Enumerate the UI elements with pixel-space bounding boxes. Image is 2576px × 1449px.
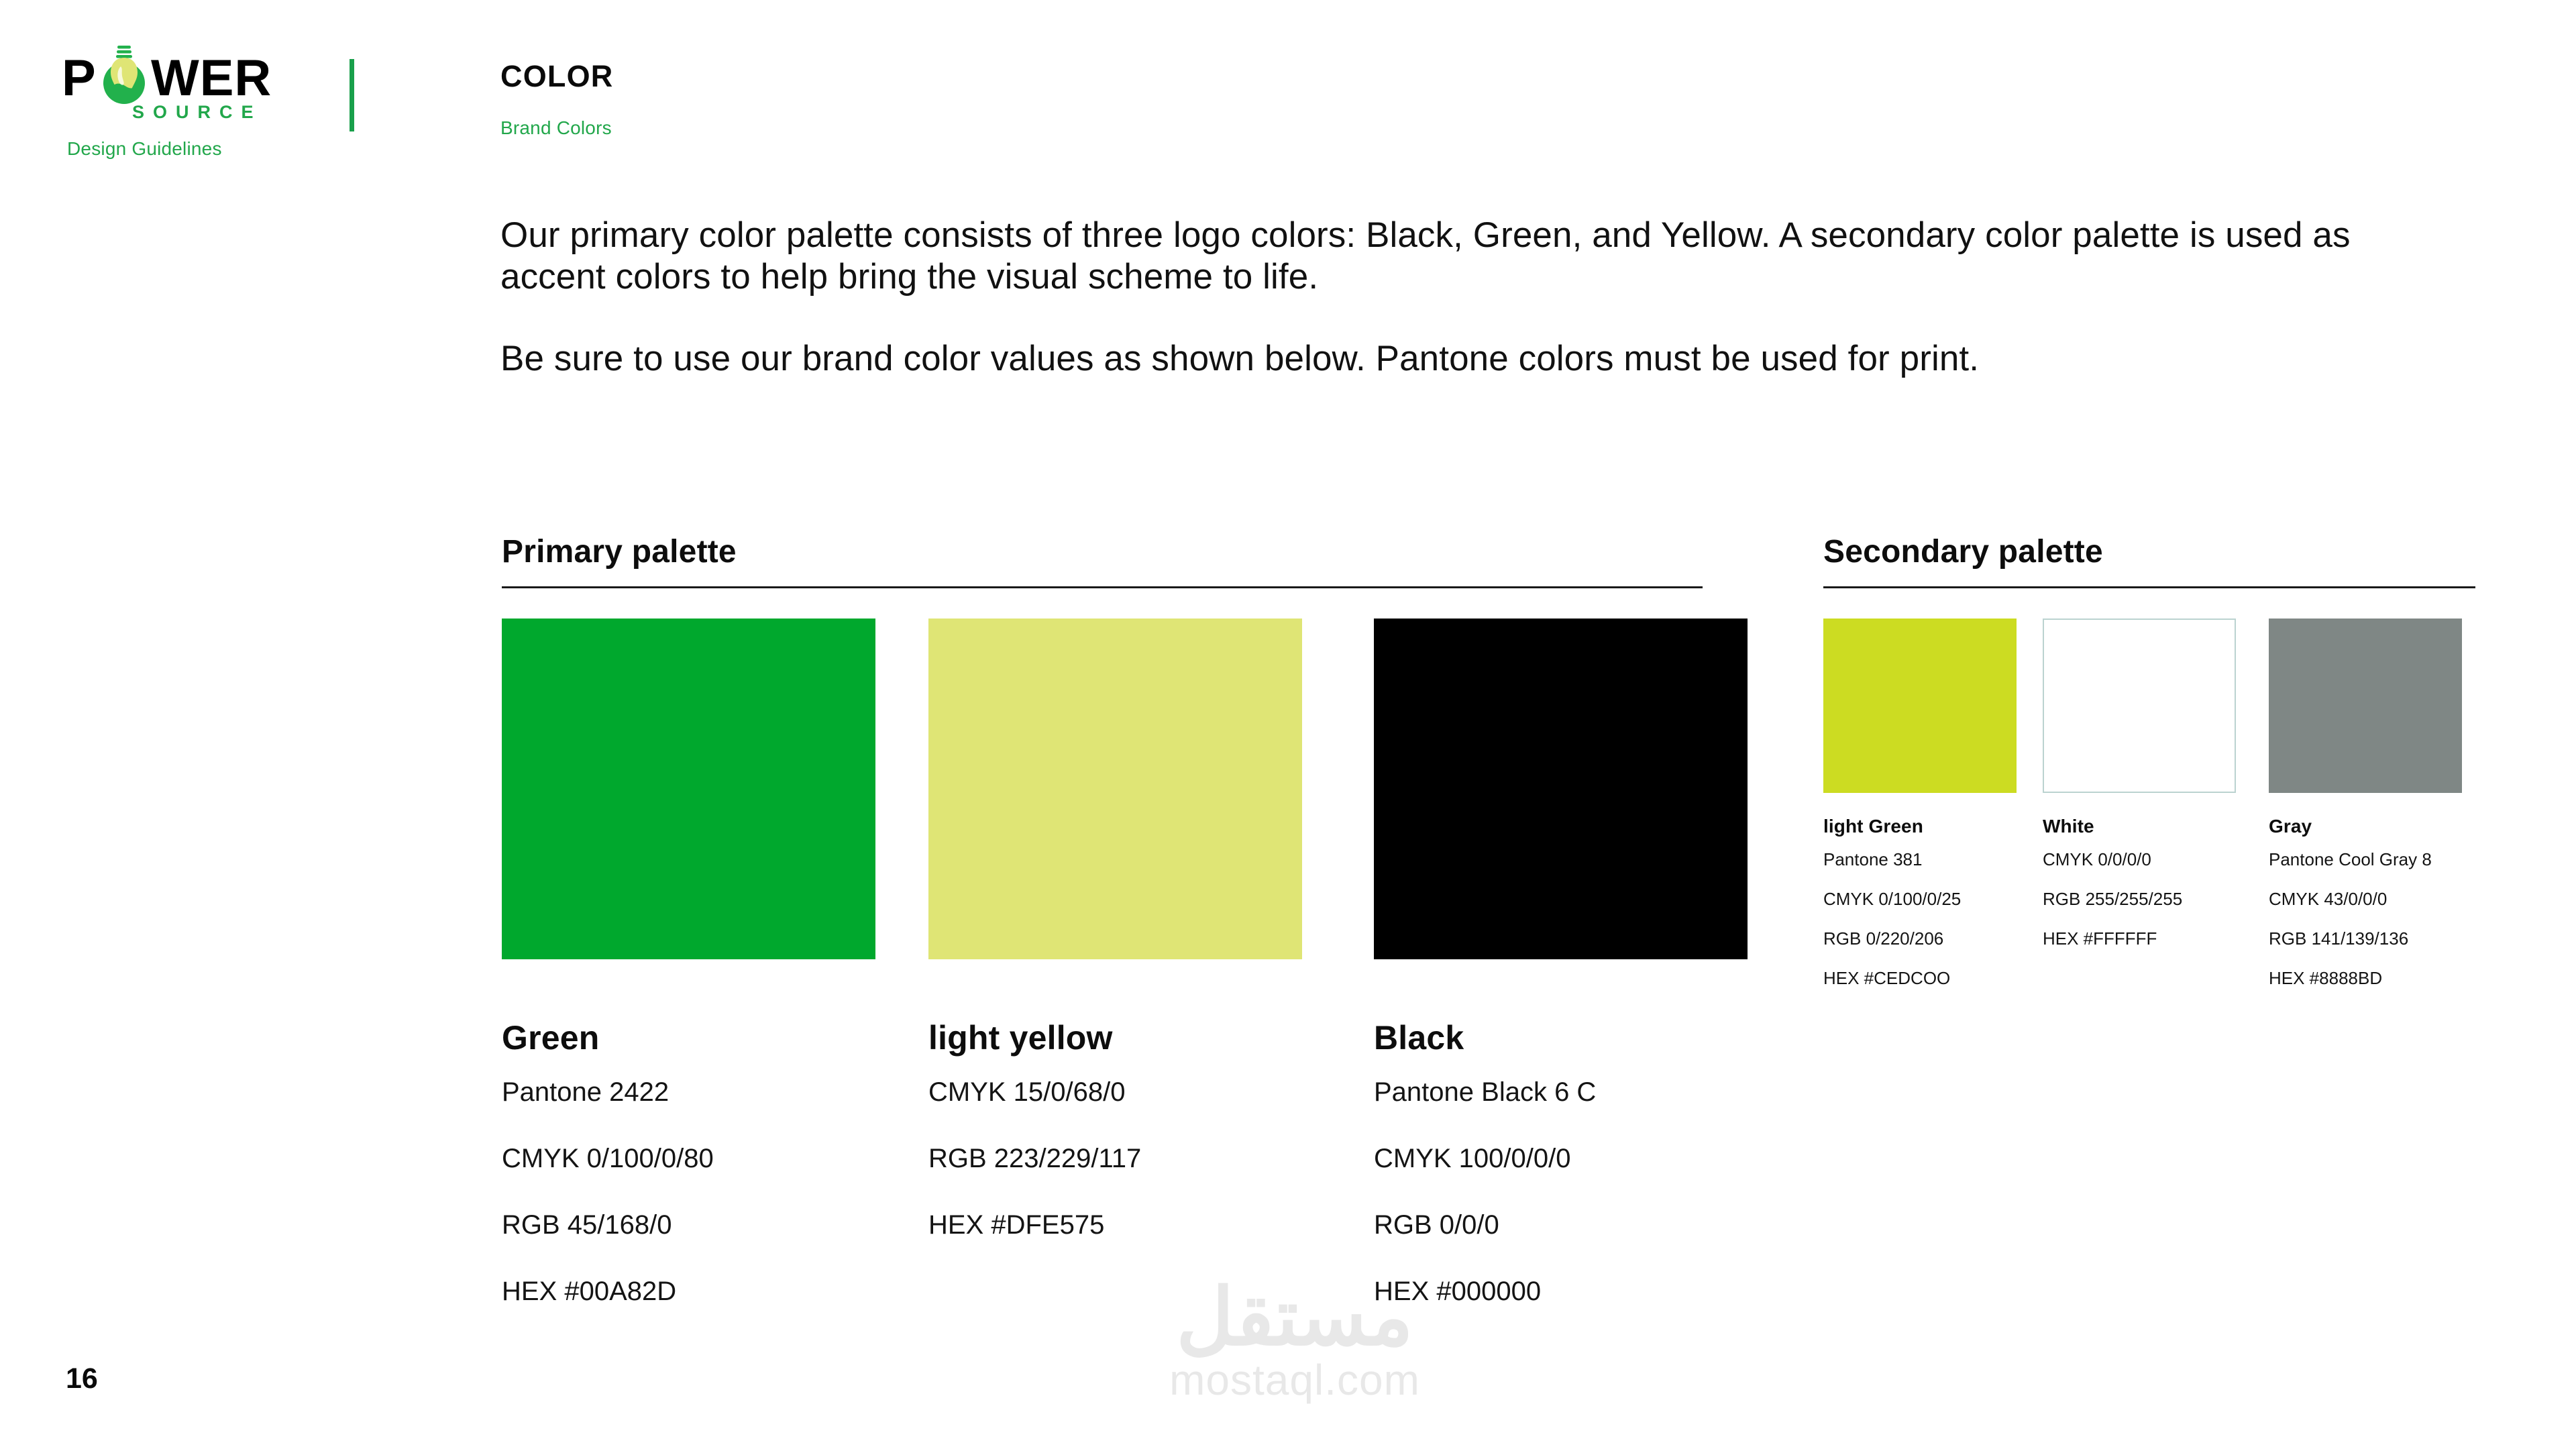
color-spec-hex: HEX #8888BD: [2269, 969, 2470, 987]
color-spec-rgb: RGB 223/229/117: [928, 1145, 1304, 1172]
page-subtitle: Brand Colors: [500, 117, 612, 139]
color-name: Green: [502, 1018, 877, 1057]
brand-logo: P WER SOURCE Design Guidelines: [62, 52, 330, 105]
color-spec-hex: HEX #000000: [1374, 1278, 1750, 1305]
color-specs: Pantone Black 6 C CMYK 100/0/0/0 RGB 0/0…: [1374, 1079, 1750, 1305]
color-chip[interactable]: [1374, 619, 1748, 959]
color-swatch-card[interactable]: White CMYK 0/0/0/0 RGB 255/255/255 HEX #…: [2043, 619, 2244, 969]
color-swatch-card[interactable]: light Green Pantone 381 CMYK 0/100/0/25 …: [1823, 619, 2025, 1009]
color-name: light Green: [1823, 816, 2025, 837]
logo-subword-source: SOURCE: [132, 102, 262, 123]
color-spec-cmyk: CMYK 0/0/0/0: [2043, 851, 2244, 868]
color-spec-rgb: RGB 141/139/136: [2269, 930, 2470, 947]
color-spec-pantone: Pantone 2422: [502, 1079, 877, 1106]
color-specs: CMYK 15/0/68/0 RGB 223/229/117 HEX #DFE5…: [928, 1079, 1304, 1238]
page-title: COLOR: [500, 59, 614, 94]
header-divider: [350, 59, 354, 131]
watermark-domain-text: mostaql.com: [1114, 1358, 1476, 1401]
color-name: Gray: [2269, 816, 2470, 837]
color-spec-hex: HEX #DFE575: [928, 1212, 1304, 1238]
color-spec-hex: HEX #CEDCOO: [1823, 969, 2025, 987]
color-spec-rgb: RGB 255/255/255: [2043, 890, 2244, 908]
color-spec-cmyk: CMYK 100/0/0/0: [1374, 1145, 1750, 1172]
color-chip[interactable]: [1823, 619, 2017, 793]
color-name: Black: [1374, 1018, 1750, 1057]
color-name: light yellow: [928, 1018, 1304, 1057]
color-spec-rgb: RGB 0/220/206: [1823, 930, 2025, 947]
logo-wordmark: P WER SOURCE: [62, 52, 310, 105]
color-spec-cmyk: CMYK 43/0/0/0: [2269, 890, 2470, 908]
color-specs: Pantone 2422 CMYK 0/100/0/80 RGB 45/168/…: [502, 1079, 877, 1305]
logo-letters-wer: WER: [151, 52, 272, 105]
color-chip[interactable]: [2269, 619, 2462, 793]
lightbulb-icon: [95, 44, 153, 106]
color-spec-cmyk: CMYK 15/0/68/0: [928, 1079, 1304, 1106]
color-name: White: [2043, 816, 2244, 837]
color-swatch-card[interactable]: Green Pantone 2422 CMYK 0/100/0/80 RGB 4…: [502, 619, 877, 1344]
primary-palette-rule: [502, 586, 1703, 588]
color-spec-cmyk: CMYK 0/100/0/25: [1823, 890, 2025, 908]
color-spec-hex: HEX #00A82D: [502, 1278, 877, 1305]
color-chip[interactable]: [2043, 619, 2236, 793]
color-specs: Pantone Cool Gray 8 CMYK 43/0/0/0 RGB 14…: [2269, 851, 2470, 987]
color-swatch-card[interactable]: light yellow CMYK 15/0/68/0 RGB 223/229/…: [928, 619, 1304, 1278]
color-chip[interactable]: [502, 619, 875, 959]
color-specs: CMYK 0/0/0/0 RGB 255/255/255 HEX #FFFFFF: [2043, 851, 2244, 947]
secondary-palette-rule: [1823, 586, 2475, 588]
logo-tagline: Design Guidelines: [67, 138, 222, 160]
color-spec-rgb: RGB 0/0/0: [1374, 1212, 1750, 1238]
intro-text-block: Our primary color palette consists of th…: [500, 215, 2372, 420]
color-specs: Pantone 381 CMYK 0/100/0/25 RGB 0/220/20…: [1823, 851, 2025, 987]
color-spec-rgb: RGB 45/168/0: [502, 1212, 877, 1238]
primary-palette-heading: Primary palette: [502, 533, 737, 570]
color-swatch-card[interactable]: Black Pantone Black 6 C CMYK 100/0/0/0 R…: [1374, 619, 1750, 1344]
intro-paragraph-2: Be sure to use our brand color values as…: [500, 338, 2372, 380]
color-spec-pantone: Pantone 381: [1823, 851, 2025, 868]
color-spec-hex: HEX #FFFFFF: [2043, 930, 2244, 947]
color-chip[interactable]: [928, 619, 1302, 959]
color-spec-pantone: Pantone Cool Gray 8: [2269, 851, 2470, 868]
intro-paragraph-1: Our primary color palette consists of th…: [500, 215, 2372, 298]
color-spec-pantone: Pantone Black 6 C: [1374, 1079, 1750, 1106]
page-number: 16: [66, 1362, 98, 1395]
color-swatch-card[interactable]: Gray Pantone Cool Gray 8 CMYK 43/0/0/0 R…: [2269, 619, 2470, 1009]
color-spec-cmyk: CMYK 0/100/0/80: [502, 1145, 877, 1172]
page-header: P WER SOURCE Design Guidelines COLOR Bra…: [0, 0, 2576, 181]
secondary-palette-heading: Secondary palette: [1823, 533, 2103, 570]
logo-letter-p: P: [62, 52, 97, 105]
